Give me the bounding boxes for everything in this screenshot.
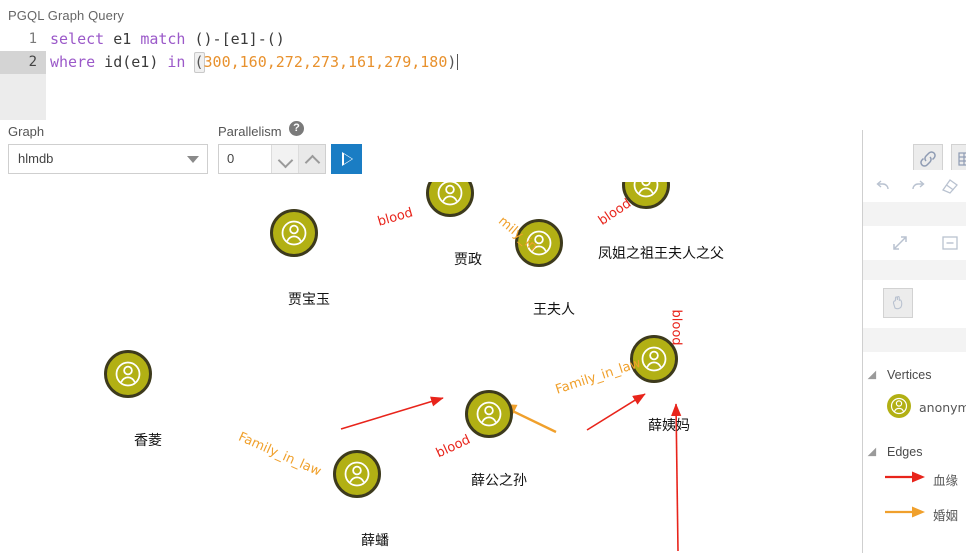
code-token: match <box>140 30 185 48</box>
gutter-line-2: 2 <box>0 51 46 74</box>
graph-canvas[interactable]: 贾宝玉贾政王夫人凤姐之祖王夫人之父薛姨妈薛公之孙薛蟠香菱 bloodmily_i… <box>0 182 862 553</box>
parallelism-increment-button[interactable] <box>298 145 325 173</box>
panel-toolbar-row-2 <box>863 226 966 260</box>
parallelism-decrement-button[interactable] <box>271 145 298 173</box>
page-title: PGQL Graph Query <box>8 8 124 23</box>
gutter-line-blank-1 <box>0 74 46 97</box>
editor-gutter: 1 2 <box>0 28 46 118</box>
code-line-1: select e1 match ()-[e1]-() <box>46 28 966 51</box>
anonymous-vertex-icon <box>631 182 661 200</box>
graph-select[interactable]: hlmdb <box>8 144 208 174</box>
expand-icon <box>889 232 911 254</box>
code-token: id(e1) <box>95 53 167 71</box>
code-token: in <box>167 53 185 71</box>
code-token: ()-[e1]-() <box>185 30 284 48</box>
blood-edge-legend-arrow <box>885 470 927 484</box>
graph-node-label: 王夫人 <box>533 299 575 319</box>
anonymous-vertex-icon <box>435 182 465 208</box>
expand-button[interactable] <box>889 232 911 254</box>
graph-label: Graph <box>8 124 44 139</box>
panel-divider-1 <box>863 202 966 226</box>
table-icon <box>952 145 966 173</box>
graph-node-label: 香菱 <box>134 430 162 450</box>
eraser-icon <box>939 175 961 197</box>
vertex-legend-label: anonymo <box>919 400 966 415</box>
code-token: ) <box>447 53 456 71</box>
app-root: PGQL Graph Query 1 2 select e1 match ()-… <box>0 0 966 553</box>
blood-edge-legend-label: 血缘 <box>933 470 958 489</box>
text-caret <box>457 54 458 70</box>
undo-button[interactable] <box>873 175 895 197</box>
panel-toolbar-row-1 <box>863 170 966 202</box>
vertices-section-title: Vertices <box>887 368 931 382</box>
chevron-down-icon <box>187 156 199 163</box>
panel-legend: Vertices anonymo Edges 血缘 婚姻 <box>863 352 966 553</box>
graph-node-label: 凤姐之祖王夫人之父 <box>598 243 724 263</box>
edges-section-title: Edges <box>887 445 922 459</box>
run-query-button[interactable] <box>331 144 362 174</box>
chevron-down-icon <box>278 153 294 169</box>
vertex-legend-swatch[interactable] <box>887 394 911 418</box>
chevron-up-icon <box>305 155 321 171</box>
gutter-line-1: 1 <box>0 28 46 51</box>
marriage-edge-legend-arrow <box>885 505 927 519</box>
edges-collapse-icon[interactable] <box>868 448 881 461</box>
graph-node-label: 贾宝玉 <box>288 289 330 309</box>
redo-button[interactable] <box>906 175 928 197</box>
code-token: 300,160,272,273,161,279,180 <box>204 53 448 71</box>
play-icon <box>342 152 353 166</box>
graph-node-label: 薛蟠 <box>361 530 389 550</box>
code-token: select <box>50 30 104 48</box>
code-token <box>104 30 113 48</box>
graph-node-label: 薛公之孙 <box>471 470 527 490</box>
code-token <box>131 30 140 48</box>
minus-icon <box>939 232 961 254</box>
anonymous-vertex-icon <box>113 359 143 389</box>
panel-divider-3 <box>863 328 966 352</box>
graph-node[interactable] <box>465 390 513 438</box>
panel-top-buttons <box>863 130 966 170</box>
code-line-2: where id(e1) in (300,160,272,273,161,279… <box>46 51 966 74</box>
link-icon <box>914 145 942 173</box>
parallelism-stepper[interactable]: 0 <box>218 144 326 174</box>
code-token: where <box>50 53 95 71</box>
graph-select-value: hlmdb <box>18 145 53 173</box>
anonymous-vertex-icon <box>639 344 669 374</box>
zoom-out-button[interactable] <box>939 232 961 254</box>
graph-node[interactable] <box>270 209 318 257</box>
redo-icon <box>906 175 928 197</box>
anonymous-vertex-icon <box>474 399 504 429</box>
graph-node-label: 薛姨妈 <box>648 415 690 435</box>
query-editor[interactable]: 1 2 select e1 match ()-[e1]-() where id(… <box>0 28 966 118</box>
graph-edge-label: blood <box>669 310 684 346</box>
eraser-button[interactable] <box>939 175 961 197</box>
undo-icon <box>873 175 895 197</box>
gutter-line-blank-2 <box>0 97 46 120</box>
hand-icon <box>884 289 912 317</box>
graph-node-label: 贾政 <box>454 249 482 269</box>
anonymous-vertex-icon <box>279 218 309 248</box>
marriage-edge-legend-label: 婚姻 <box>933 505 958 524</box>
panel-toolbar-row-3 <box>863 280 966 328</box>
parallelism-value: 0 <box>227 145 234 173</box>
anonymous-vertex-icon <box>887 394 911 418</box>
graph-side-panel: Vertices anonymo Edges 血缘 婚姻 <box>862 130 966 553</box>
panel-divider-2 <box>863 260 966 280</box>
parallelism-label: Parallelism <box>218 124 282 139</box>
pan-tool-button[interactable] <box>883 288 913 318</box>
vertices-collapse-icon[interactable] <box>868 371 881 384</box>
editor-code[interactable]: select e1 match ()-[e1]-() where id(e1) … <box>46 28 966 118</box>
graph-node[interactable] <box>104 350 152 398</box>
graph-node[interactable] <box>333 450 381 498</box>
help-icon[interactable]: ? <box>289 121 304 136</box>
code-token: e1 <box>113 30 131 48</box>
anonymous-vertex-icon <box>342 459 372 489</box>
